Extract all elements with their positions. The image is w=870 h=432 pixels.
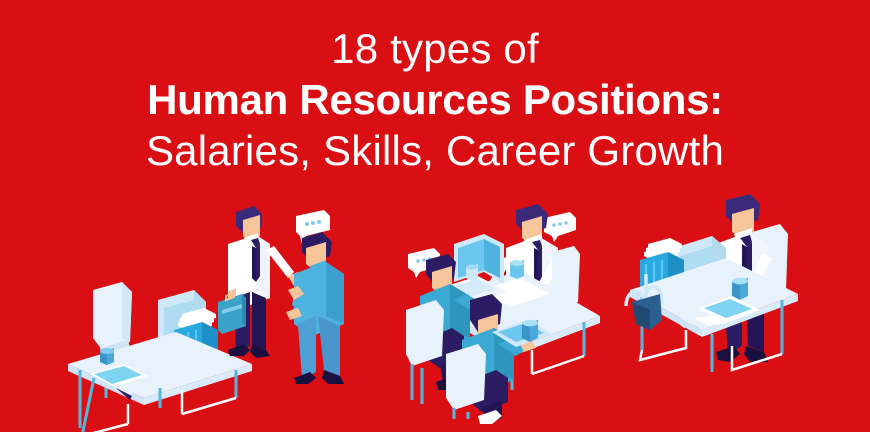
coffee-cup (732, 278, 748, 300)
title-line-main: Human Resources Positions: (0, 79, 870, 130)
scene-handshake (198, 194, 373, 399)
coffee-cup (510, 260, 524, 279)
scene-meeting (392, 204, 607, 419)
scene-standing-desk (616, 194, 806, 409)
coffee-cup (466, 264, 478, 281)
banner-title-block: 18 types of Human Resources Positions: S… (0, 28, 870, 172)
title-line-subtitle: Salaries, Skills, Career Growth (0, 130, 870, 172)
title-line-count: 18 types of (0, 28, 870, 79)
person-recruiter (218, 206, 304, 358)
isometric-illustration (0, 186, 870, 432)
hr-positions-banner: 18 types of Human Resources Positions: S… (0, 0, 870, 432)
speech-bubble-icon (544, 212, 576, 242)
person-candidate (286, 232, 344, 384)
coffee-cup (522, 320, 538, 342)
coffee-cup (100, 348, 114, 365)
